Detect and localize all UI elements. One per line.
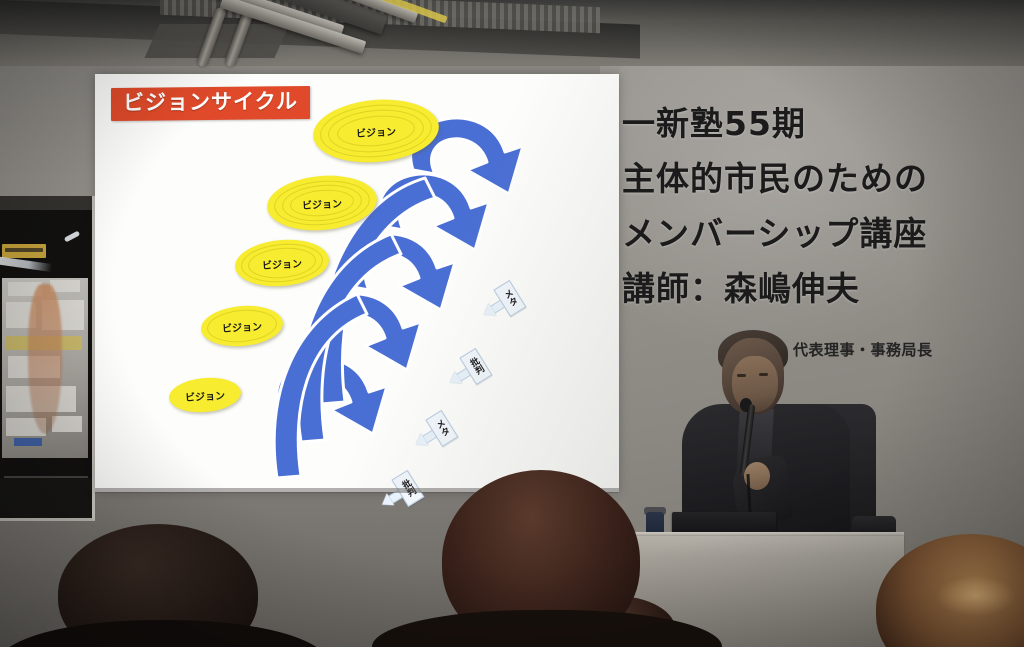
poster-sheet bbox=[52, 416, 82, 432]
audience-head bbox=[442, 470, 640, 647]
heading-line: 主体的市民のための bbox=[622, 151, 1022, 206]
vision-oval-label: ビジョン bbox=[185, 386, 226, 403]
screenshot-stage: ビジョンサイクル bbox=[0, 0, 1024, 647]
callout-label: メタ bbox=[433, 418, 451, 439]
window-light-reflection bbox=[64, 231, 80, 243]
ceiling bbox=[0, 0, 1024, 66]
window-sign bbox=[2, 244, 46, 258]
audience-hair-highlight bbox=[936, 576, 1016, 616]
heading-line: メンバーシップ講座 bbox=[622, 206, 1022, 261]
callout-label: メタ bbox=[501, 288, 519, 309]
vision-oval-label: ビジョン bbox=[356, 122, 397, 139]
poster-board bbox=[2, 278, 88, 458]
speaker-eye bbox=[759, 373, 768, 376]
callout-label: 批判 bbox=[467, 356, 485, 377]
vision-oval-label: ビジョン bbox=[262, 254, 303, 271]
reflection-figure bbox=[28, 284, 62, 434]
poster-sheet bbox=[14, 438, 42, 446]
heading-line: 講師：森嶋伸夫 bbox=[622, 261, 1022, 316]
speaker-face bbox=[732, 356, 778, 412]
window-bottom-frame bbox=[0, 478, 92, 518]
window-top-frame bbox=[0, 196, 92, 210]
projection-screen: ビジョンサイクル bbox=[95, 74, 619, 492]
side-window-panel bbox=[0, 196, 95, 521]
speaker-eye bbox=[737, 374, 746, 377]
heading-line: 一新塾55期 bbox=[622, 96, 1022, 151]
vision-oval-label: ビジョン bbox=[302, 194, 343, 211]
projected-heading: 一新塾55期 主体的市民のための メンバーシップ講座 講師：森嶋伸夫 bbox=[622, 96, 1022, 316]
window-light-streak bbox=[0, 256, 52, 272]
vision-oval-label: ビジョン bbox=[222, 317, 263, 334]
